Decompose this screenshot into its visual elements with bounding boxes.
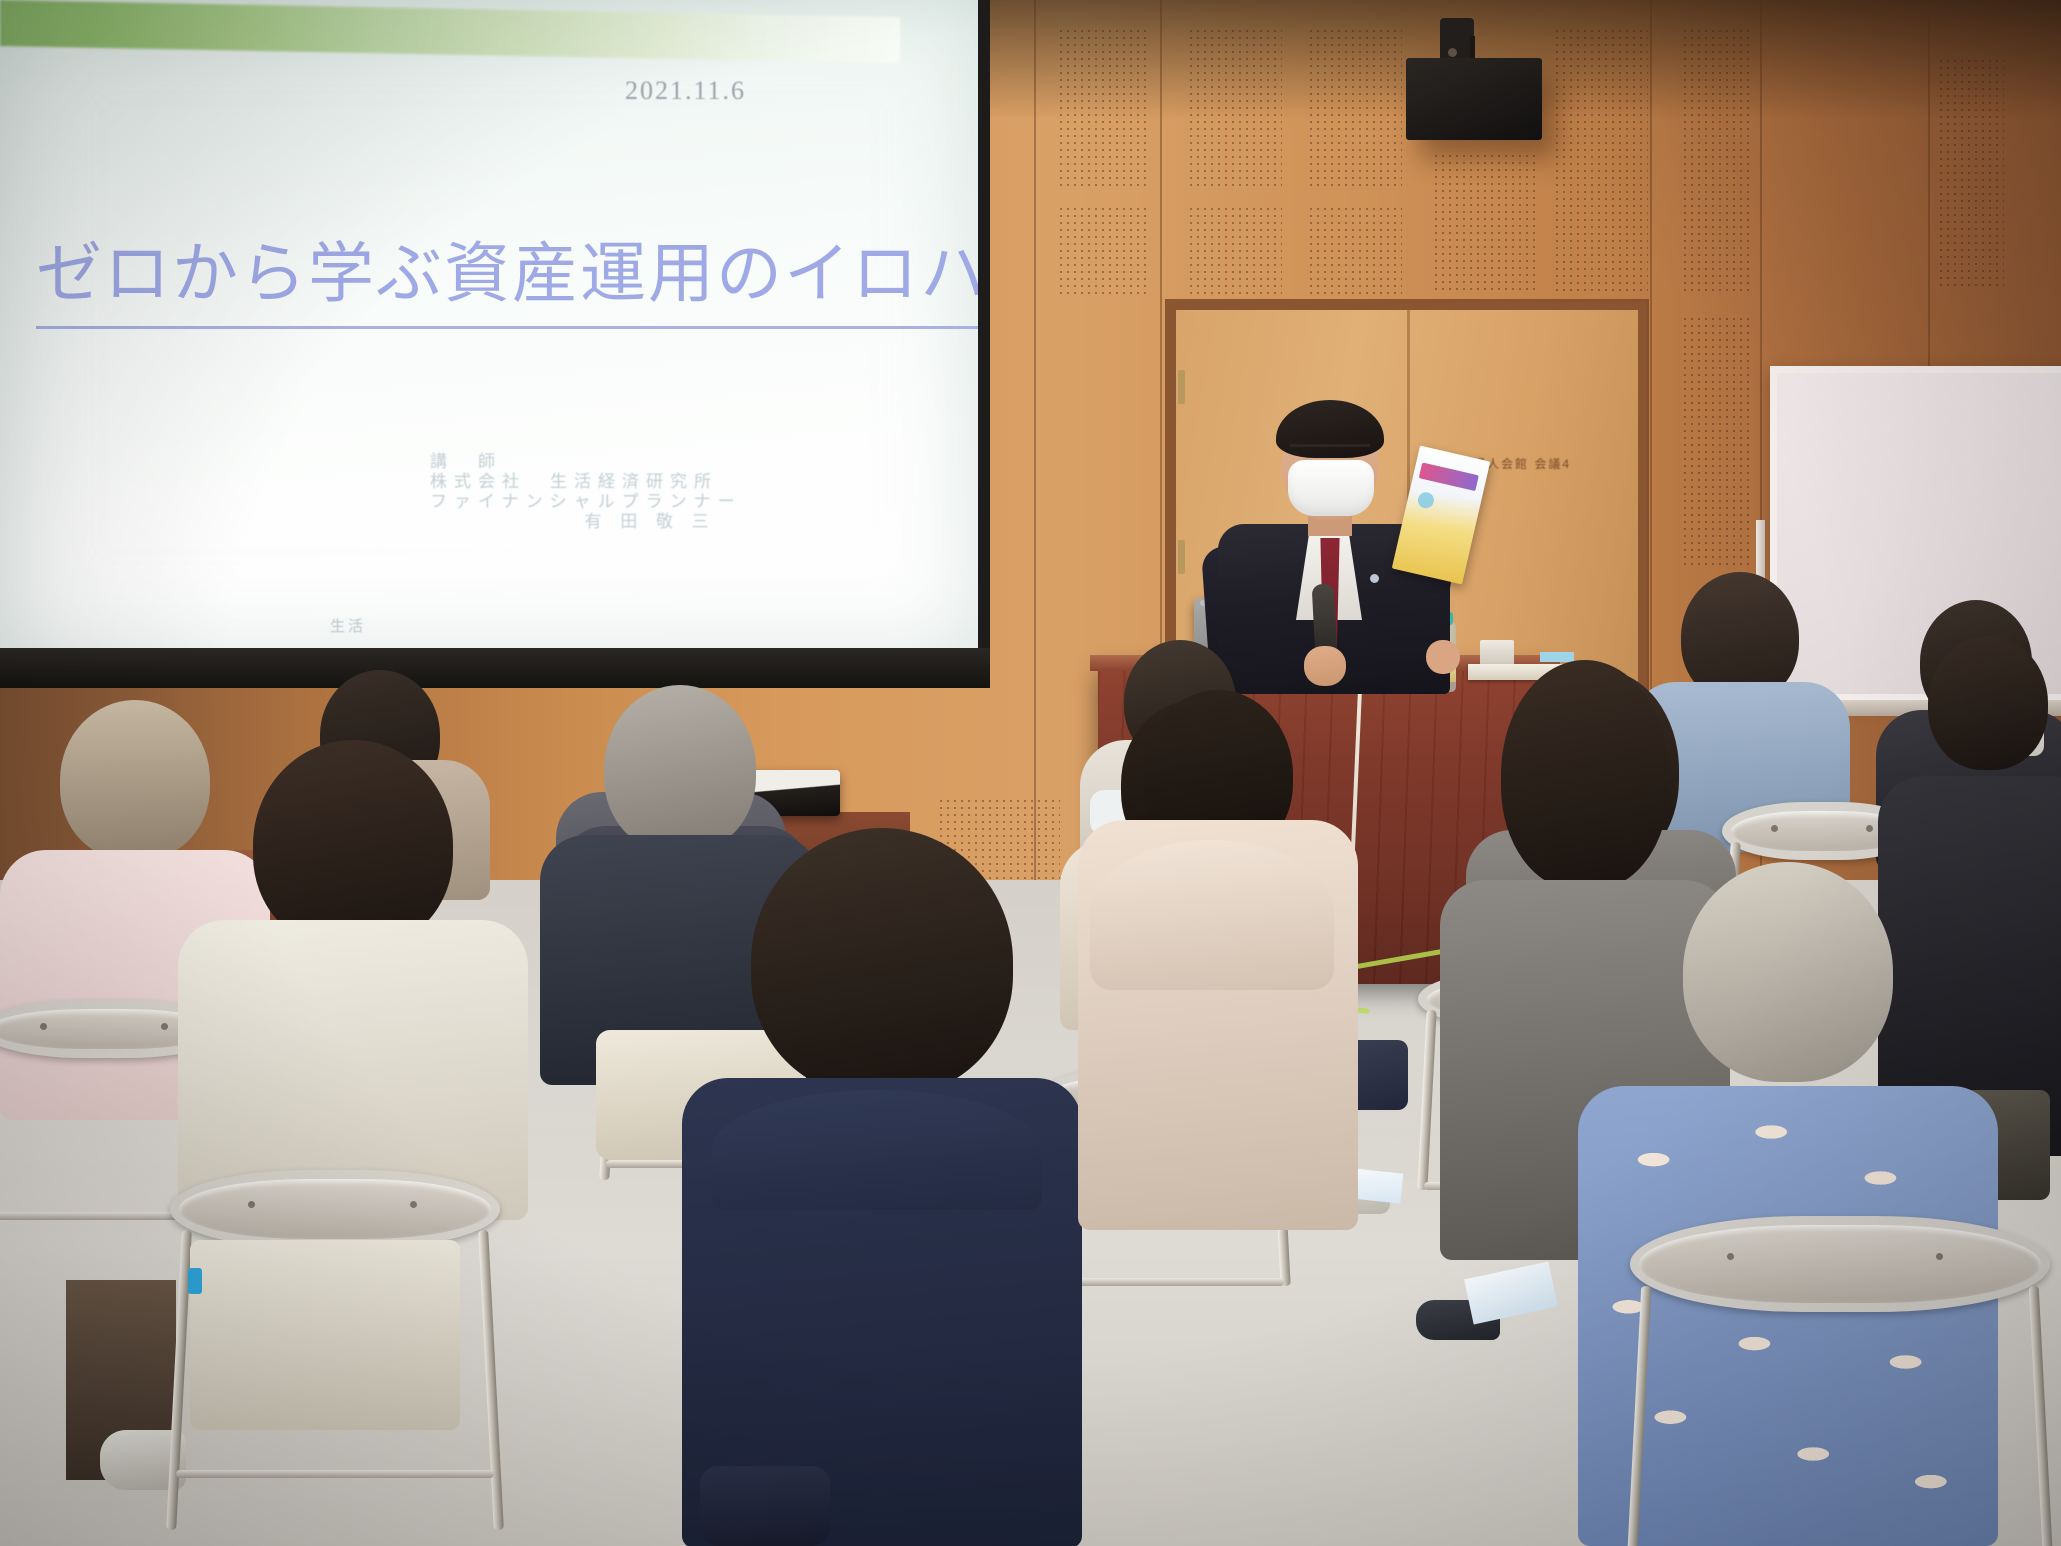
acoustic-panel — [1435, 155, 1535, 295]
speaker-role: 講 師 — [430, 452, 502, 471]
audience-head — [1683, 862, 1893, 1082]
list-item — [178, 740, 528, 1220]
hood — [712, 1090, 1042, 1210]
speaker-bracket — [1440, 18, 1474, 60]
glasses-icon — [1290, 444, 1370, 460]
chair-back — [170, 1170, 500, 1248]
wall-loudspeaker-icon — [1406, 58, 1542, 140]
acoustic-panel — [1190, 208, 1282, 294]
projection-screen: 2021.11.6 ゼロから学ぶ資産運用のイロハ 講 師 株式会社 生活経済研究… — [0, 0, 990, 690]
hood — [1090, 840, 1334, 990]
acoustic-panel — [1684, 318, 1754, 568]
brochure-header-band — [1419, 462, 1479, 491]
speaker-company: 株式会社 生活経済研究所 — [430, 472, 718, 491]
acoustic-panel — [1310, 30, 1402, 186]
acoustic-panel — [1940, 60, 2004, 290]
slide-footer-note: 生活 — [330, 615, 366, 636]
audience-head — [751, 828, 1013, 1096]
presenter-hand-mic — [1304, 646, 1346, 686]
acoustic-panel — [1684, 30, 1754, 294]
face-mask-icon — [1288, 460, 1374, 516]
speaker-mount-dot — [1448, 48, 1457, 57]
audience-head — [253, 740, 453, 950]
audience-torso-lower — [190, 1240, 460, 1430]
acoustic-panel — [1060, 208, 1150, 294]
audience-head — [1501, 660, 1669, 890]
lanyard-tag — [188, 1268, 202, 1294]
slide-title: ゼロから学ぶ資産運用のイロハ — [36, 220, 978, 329]
door-hinge — [1178, 540, 1185, 574]
seminar-photo: 婦人会館 会議4 2021.11.6 ゼロから学ぶ資産運用のイロハ 講 師 株式… — [0, 0, 2061, 1546]
acoustic-panel — [1310, 208, 1402, 294]
audience-head — [1928, 636, 2048, 770]
slide-speaker-block: 講 師 株式会社 生活経済研究所 ファイナンシャルプランナー 有 田 敬 三 — [430, 452, 742, 532]
acoustic-panel — [1060, 30, 1150, 186]
speaker-qualification: ファイナンシャルプランナー — [430, 492, 742, 511]
acoustic-panel — [1556, 30, 1648, 294]
slide-surface: 2021.11.6 ゼロから学ぶ資産運用のイロハ 講 師 株式会社 生活経済研究… — [0, 0, 978, 655]
audience-arm — [700, 1466, 830, 1546]
wall-seam — [1034, 0, 1036, 900]
acoustic-panel — [1190, 30, 1282, 186]
slide-date: 2021.11.6 — [625, 76, 746, 106]
list-item[interactable] — [1630, 1216, 2050, 1546]
chair-back — [1630, 1216, 2050, 1312]
door-hinge — [1178, 370, 1185, 404]
screen-bottom-bar — [0, 648, 990, 688]
slide-green-band — [0, 0, 900, 63]
lapel-pin-icon — [1370, 574, 1379, 583]
brochure-graphic — [1416, 491, 1435, 510]
speaker-name: 有 田 敬 三 — [430, 512, 742, 532]
